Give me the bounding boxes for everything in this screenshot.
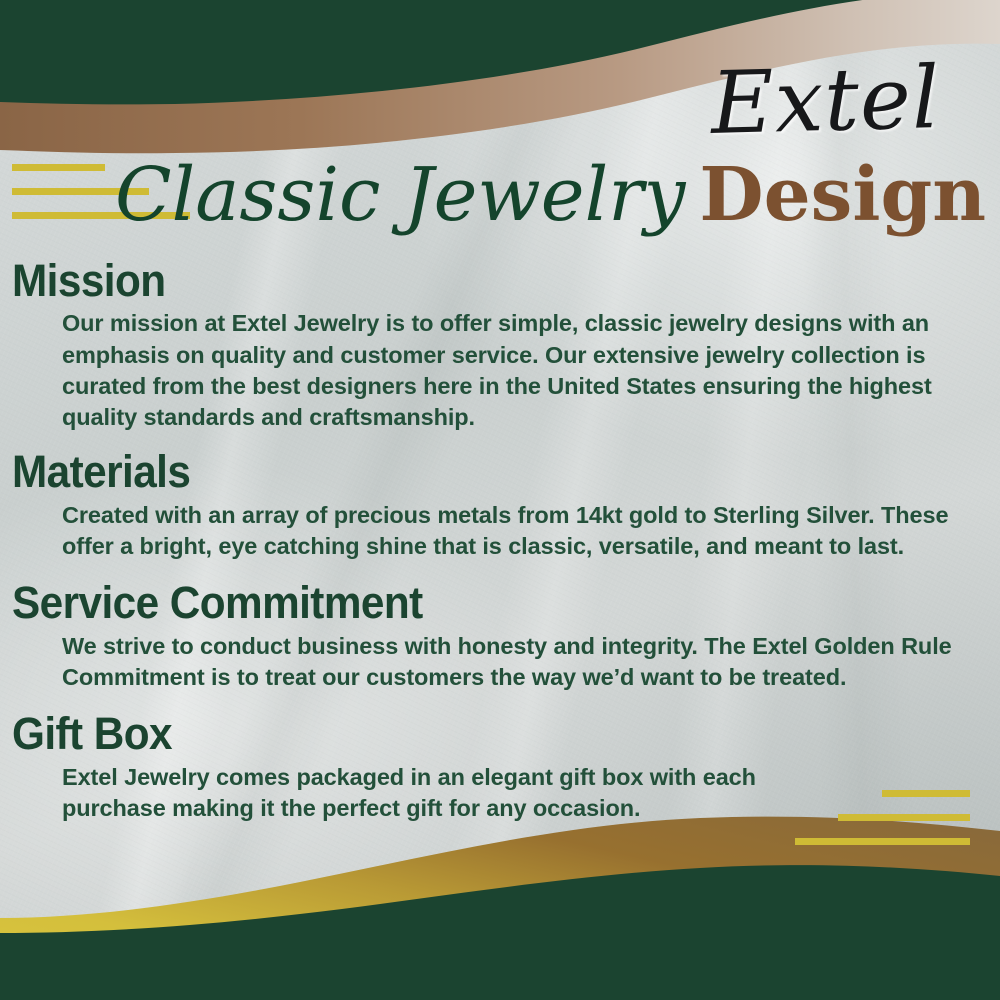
section-title-gift-box: Gift Box — [12, 709, 924, 759]
section-body-materials: Created with an array of precious metals… — [62, 500, 982, 563]
section-body-service-commitment: We strive to conduct business with hones… — [62, 631, 982, 694]
brand-logo: Extel — [710, 55, 941, 147]
content-sections: Mission Our mission at Extel Jewelry is … — [12, 256, 982, 834]
poster-canvas: Extel Classic JewelryDesign Mission Our … — [0, 0, 1000, 1000]
section-title-mission: Mission — [12, 256, 924, 306]
section-title-service-commitment: Service Commitment — [12, 578, 924, 628]
section-mission: Mission Our mission at Extel Jewelry is … — [12, 256, 982, 433]
section-service-commitment: Service Commitment We strive to conduct … — [12, 578, 982, 693]
page-title-primary: Classic Jewelry — [115, 152, 685, 238]
page-title: Classic JewelryDesign — [0, 158, 986, 232]
section-gift-box: Gift Box Extel Jewelry comes packaged in… — [12, 709, 982, 824]
section-body-mission: Our mission at Extel Jewelry is to offer… — [62, 308, 982, 433]
section-materials: Materials Created with an array of preci… — [12, 447, 982, 562]
page-title-secondary: Design — [699, 152, 986, 238]
gold-line-long — [795, 838, 970, 845]
section-body-gift-box: Extel Jewelry comes packaged in an elega… — [62, 762, 782, 825]
section-title-materials: Materials — [12, 447, 924, 497]
